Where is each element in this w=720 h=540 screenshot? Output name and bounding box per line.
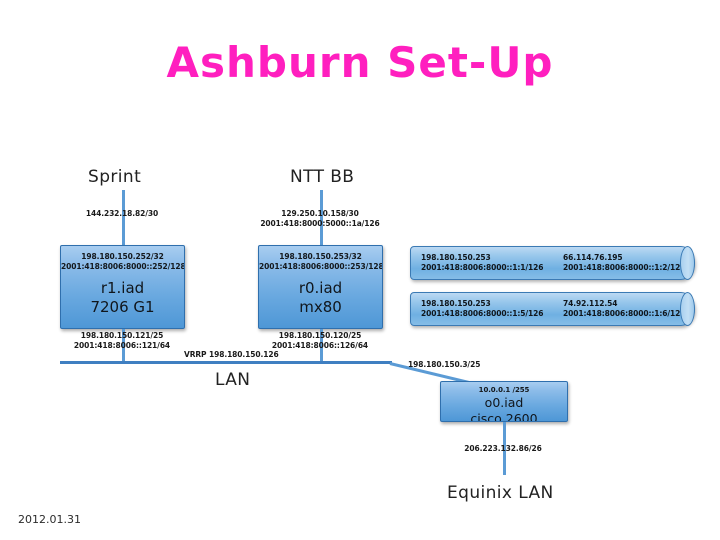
router-node-r1-iad[interactable]: 198.180.150.252/32 2001:418:8006:8000::2… bbox=[60, 245, 185, 329]
tunnel-2-local-ipv6: 2001:418:8006:8000::1:5/126 bbox=[421, 309, 543, 319]
router-node-r0-iad[interactable]: 198.180.150.253/32 2001:418:8006:8000::2… bbox=[258, 245, 383, 329]
router-ipv6-r0-iad: 2001:418:8006:8000::253/128 bbox=[259, 262, 382, 272]
tunnel-2-remote-ipv6: 2001:418:8006:8000::1:6/126 bbox=[563, 309, 685, 319]
router-ipv4-o0-iad: 10.0.0.1 /255 bbox=[441, 385, 567, 395]
link-line-sprint-uplink bbox=[122, 190, 125, 248]
lan-bus-line bbox=[60, 361, 392, 364]
router-hostname-r1-iad: r1.iad bbox=[61, 279, 184, 298]
slide-date: 2012.01.31 bbox=[18, 513, 81, 526]
tunnel-2-local-ipv4: 198.180.150.253 bbox=[421, 299, 491, 309]
link-label-sprint-ipv4: 144.232.18.82/30 bbox=[62, 209, 182, 219]
provider-label-equinix-lan: Equinix LAN bbox=[447, 483, 554, 503]
router-model-r0-iad: mx80 bbox=[259, 298, 382, 317]
link-label-r1-lan-ipv6: 2001:418:8006::121/64 bbox=[60, 341, 184, 351]
link-label-equinix-ipv4: 206.223.132.86/26 bbox=[443, 444, 563, 454]
provider-label-sprint: Sprint bbox=[88, 167, 141, 187]
link-label-r1-lan-ipv4: 198.180.150.121/25 bbox=[62, 331, 182, 341]
router-node-o0-iad[interactable]: 10.0.0.1 /255 o0.iad cisco 2600 bbox=[440, 381, 568, 422]
provider-label-ntt-bb: NTT BB bbox=[290, 167, 354, 187]
link-label-ntt-ipv4: 129.250.10.158/30 bbox=[255, 209, 385, 219]
tunnel-end-cap-icon bbox=[680, 292, 695, 326]
tunnel-node-2[interactable]: 198.180.150.253 2001:418:8006:8000::1:5/… bbox=[410, 292, 695, 326]
link-label-ntt-ipv6: 2001:418:8000:5000::1a/126 bbox=[250, 219, 390, 229]
router-model-r1-iad: 7206 G1 bbox=[61, 298, 184, 317]
tunnel-1-remote-ipv4: 66.114.76.195 bbox=[563, 253, 622, 263]
router-hostname-r0-iad: r0.iad bbox=[259, 279, 382, 298]
router-hostname-o0-iad: o0.iad bbox=[441, 395, 567, 411]
router-ipv4-r1-iad: 198.180.150.252/32 bbox=[61, 252, 184, 262]
provider-label-lan: LAN bbox=[215, 370, 250, 390]
link-label-vrrp: VRRP 198.180.150.126 bbox=[184, 350, 279, 360]
tunnel-node-1[interactable]: 198.180.150.253 2001:418:8006:8000::1:1/… bbox=[410, 246, 695, 280]
router-ipv6-r1-iad: 2001:418:8006:8000::252/128 bbox=[61, 262, 184, 272]
router-model-o0-iad: cisco 2600 bbox=[441, 411, 567, 422]
router-ipv4-r0-iad: 198.180.150.253/32 bbox=[259, 252, 382, 262]
tunnel-2-remote-ipv4: 74.92.112.54 bbox=[563, 299, 617, 309]
tunnel-1-local-ipv6: 2001:418:8006:8000::1:1/126 bbox=[421, 263, 543, 273]
tunnel-1-local-ipv4: 198.180.150.253 bbox=[421, 253, 491, 263]
tunnel-end-cap-icon bbox=[680, 246, 695, 280]
slide-canvas: Ashburn Set-Up Sprint NTT BB LAN Equinix… bbox=[0, 0, 720, 540]
tunnel-1-remote-ipv6: 2001:418:8006:8000::1:2/126 bbox=[563, 263, 685, 273]
page-title: Ashburn Set-Up bbox=[0, 38, 720, 87]
link-label-r0-lan-ipv4: 198.180.150.120/25 bbox=[260, 331, 380, 341]
link-label-o0-lan-ipv4: 198.180.150.3/25 bbox=[408, 360, 480, 370]
